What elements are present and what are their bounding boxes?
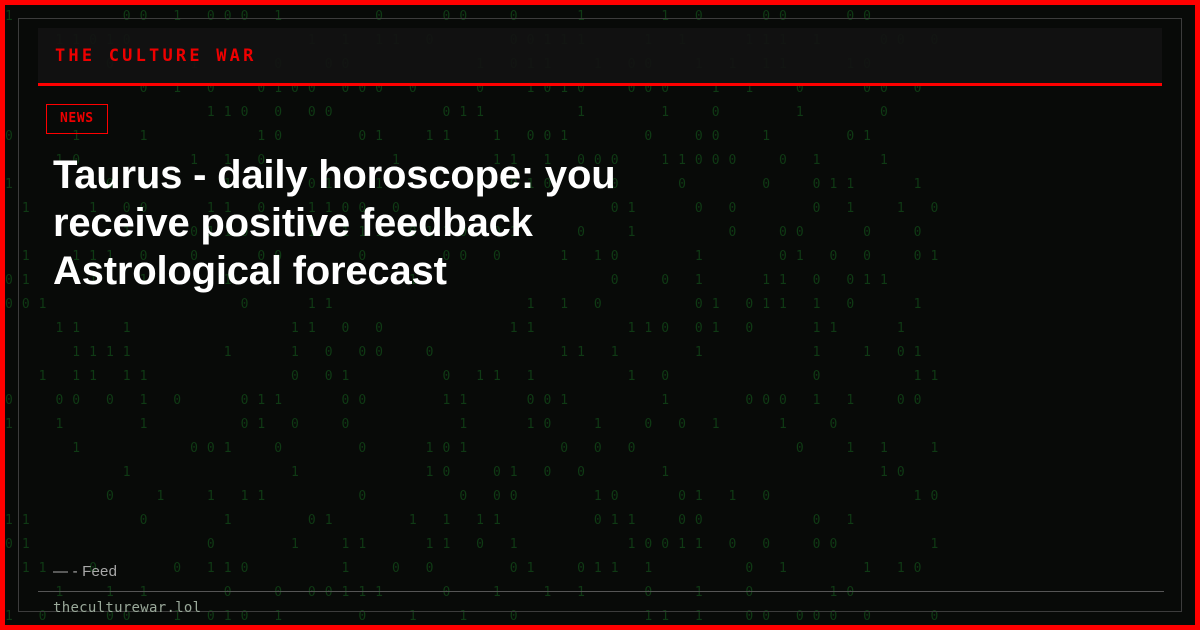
category-badge-news[interactable]: NEWS [46,104,108,134]
byline: — - Feed [53,563,117,580]
site-domain: theculturewar.lol [53,600,201,616]
card-content: THE CULTURE WAR NEWS Taurus - daily horo… [5,5,1195,625]
footer-divider [38,591,1164,592]
headline: Taurus - daily horoscope: you receive po… [53,151,733,295]
social-share-card: 1 00 1 000 1 0 00 0 1 1 0 00 00 11010 1 … [0,0,1200,630]
brand-header: THE CULTURE WAR [38,28,1162,86]
brand-title: THE CULTURE WAR [55,46,257,66]
